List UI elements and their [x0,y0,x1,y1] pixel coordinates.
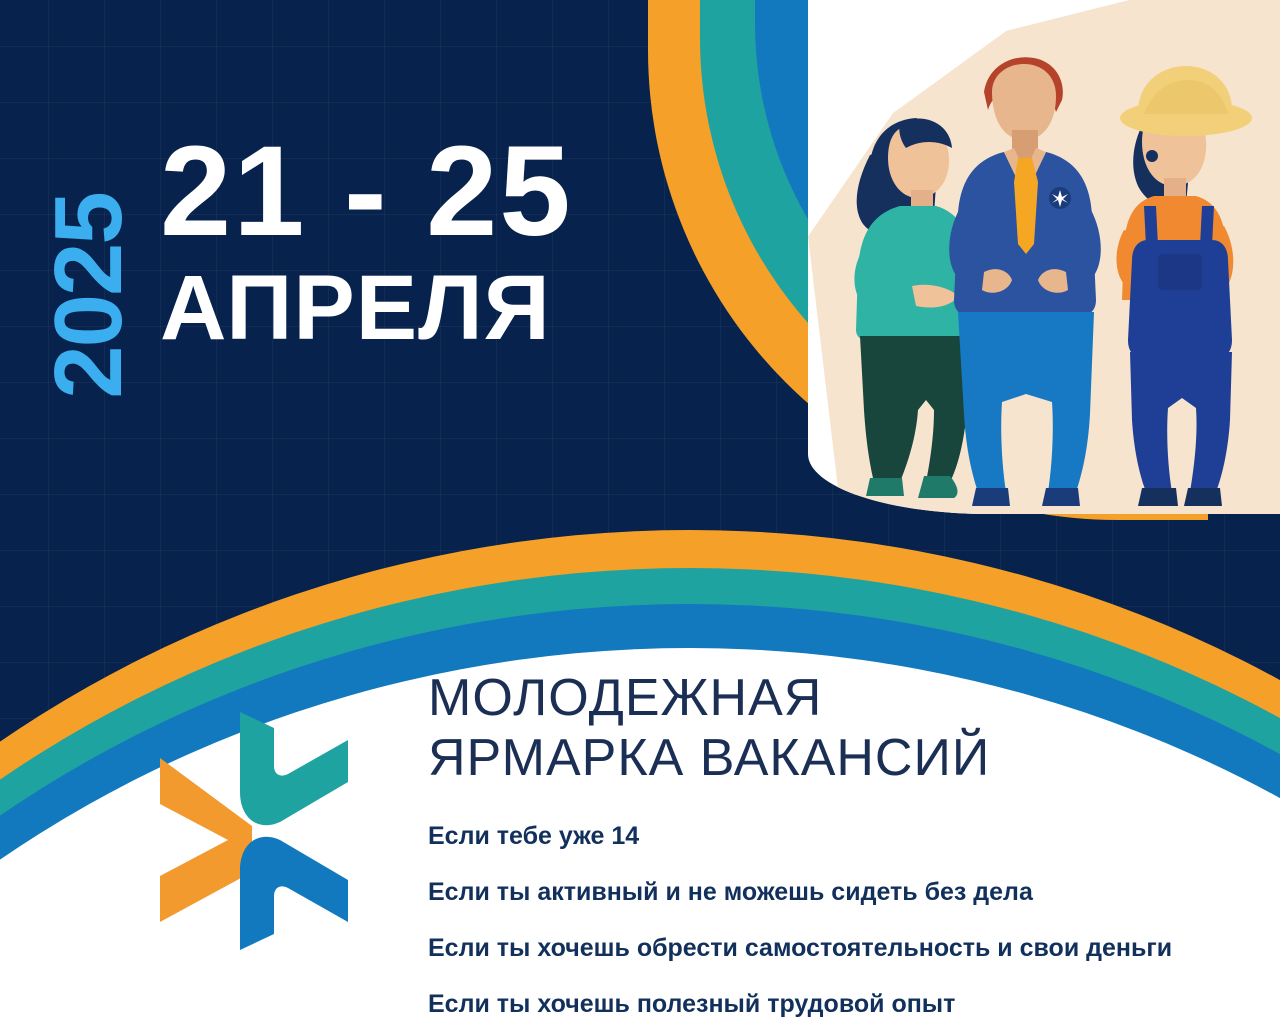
year-label: 2025 [41,193,137,399]
headline-line-2: ЯРМАРКА ВАКАНСИЙ [428,728,1218,788]
illustration-panel [808,0,1280,514]
poster-canvas: 2025 21 - 25 АПРЕЛЯ МОЛОДЕЖНАЯ ЯРМАРКА В… [0,0,1280,1036]
figure-woman-straw-hat [1117,66,1253,506]
list-item: Если тебе уже 14 [428,822,1268,851]
date-month: АПРЕЛЯ [160,262,551,354]
headline-line-1: МОЛОДЕЖНАЯ [428,668,1218,728]
figure-man-blue-jacket [949,57,1101,506]
page-title: МОЛОДЕЖНАЯ ЯРМАРКА ВАКАНСИЙ [428,668,1218,789]
list-item: Если ты хочешь обрести самостоятельность… [428,934,1268,963]
benefit-list: Если тебе уже 14 Если ты активный и не м… [428,822,1268,1036]
date-days: 21 - 25 [160,128,573,256]
event-logo [140,700,390,962]
list-item: Если ты активный и не можешь сидеть без … [428,878,1268,907]
three-young-people-illustration [808,0,1280,514]
three-chevron-pinwheel-icon [140,700,390,962]
list-item: Если ты хочешь полезный трудовой опыт [428,990,1268,1019]
